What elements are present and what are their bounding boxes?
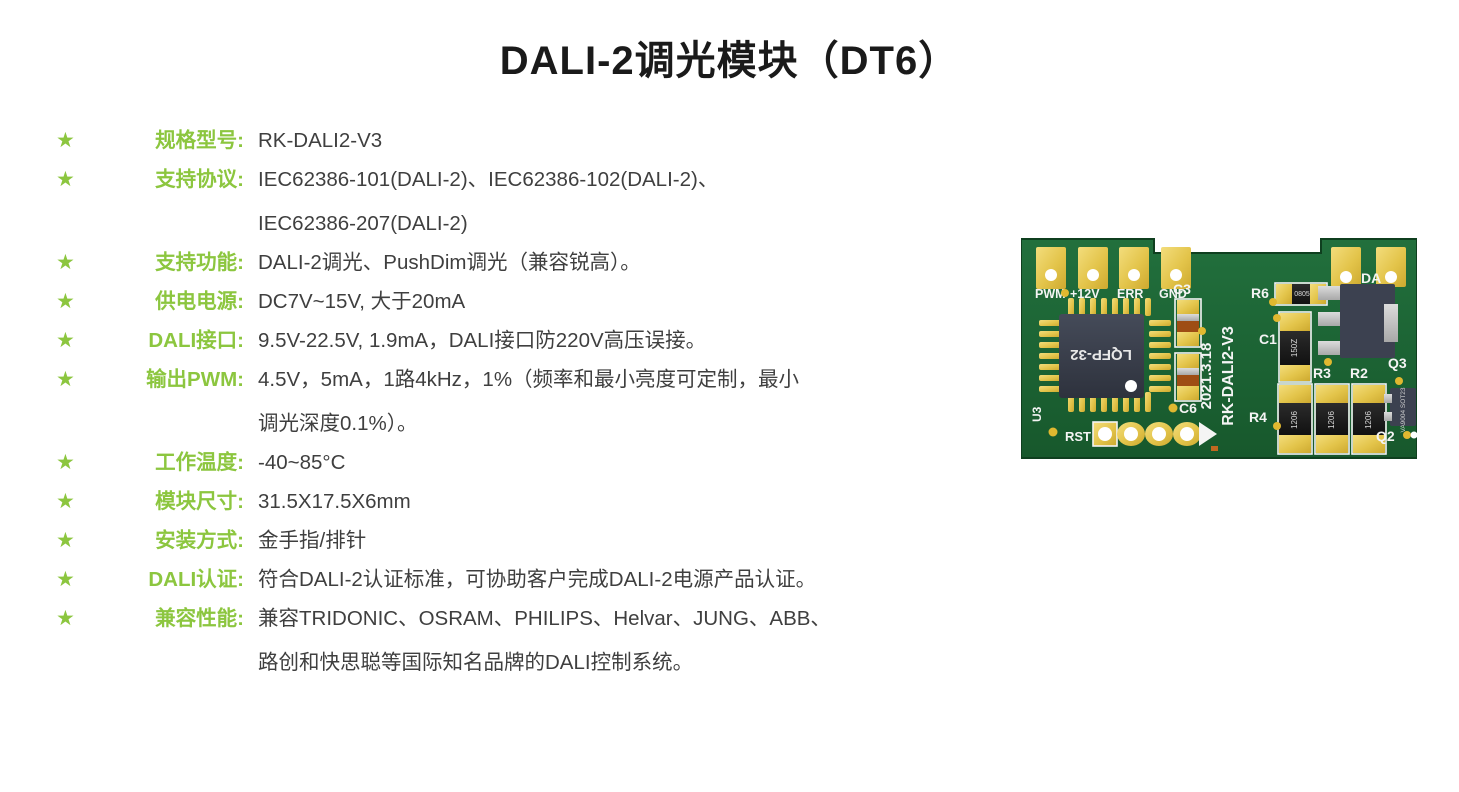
silkscreen-c3: C3 [1173, 281, 1191, 297]
spec-value-line: 金手指/排针 [258, 526, 986, 556]
spec-row: ★ 输出PWM: 4.5V，5mA，1路4kHz，1%（频率和最小亮度可定制，最… [56, 365, 986, 439]
spec-value: DC7V~15V, 大于20mA [244, 287, 986, 317]
via-pad [1061, 289, 1069, 297]
silkscreen-c1: C1 [1259, 331, 1277, 347]
spec-value: DALI-2调光、PushDim调光（兼容锐高）。 [244, 248, 986, 278]
spec-value: 兼容TRIDONIC、OSRAM、PHILIPS、Helvar、JUNG、ABB… [244, 604, 986, 678]
spec-row: ★ 支持功能: DALI-2调光、PushDim调光（兼容锐高）。 [56, 248, 986, 278]
svg-text:1206: 1206 [1364, 411, 1373, 429]
spec-row: ★ DALI认证: 符合DALI-2认证标准，可协助客户完成DALI-2电源产品… [56, 565, 986, 595]
svg-text:1206: 1206 [1327, 411, 1336, 429]
svg-text:1206: 1206 [1290, 411, 1299, 429]
silkscreen-c6: C6 [1179, 400, 1197, 416]
spec-value: 9.5V-22.5V, 1.9mA，DALI接口防220V高压误接。 [244, 326, 986, 356]
silkscreen-part-number: RK-DALI2-V3 [1220, 326, 1237, 426]
spec-row: ★ 安装方式: 金手指/排针 [56, 526, 986, 556]
star-icon: ★ [56, 487, 82, 517]
spec-label: DALI接口: [90, 326, 244, 356]
spec-value-line: DC7V~15V, 大于20mA [258, 287, 986, 317]
spec-value-line: 路创和快思聪等国际知名品牌的DALI控制系统。 [258, 648, 986, 678]
spec-value-line: IEC62386-101(DALI-2)、IEC62386-102(DALI-2… [258, 165, 986, 195]
spec-label: 支持功能: [90, 248, 244, 278]
pad-label-pwm: PWM [1035, 287, 1066, 301]
silkscreen-r4: R4 [1249, 409, 1267, 425]
spec-value-line: 9.5V-22.5V, 1.9mA，DALI接口防220V高压误接。 [258, 326, 986, 356]
pad-label-12v: +12V [1070, 287, 1100, 301]
spec-label: 供电电源: [90, 287, 244, 317]
spec-label: 模块尺寸: [90, 487, 244, 517]
svg-text:VA9004 SOT23: VA9004 SOT23 [1400, 387, 1407, 432]
spec-value-line: IEC62386-207(DALI-2) [258, 209, 986, 239]
spec-value-line: 调光深度0.1%）。 [258, 409, 986, 439]
star-icon: ★ [56, 287, 82, 317]
spec-value-line: 符合DALI-2认证标准，可协助客户完成DALI-2电源产品认证。 [258, 565, 986, 595]
spec-sheet-page: DALI-2调光模块（DT6） ★ 规格型号: RK-DALI2-V3 ★ 支持… [0, 0, 1459, 792]
star-icon: ★ [56, 365, 82, 395]
spec-value-line: 兼容TRIDONIC、OSRAM、PHILIPS、Helvar、JUNG、ABB… [258, 604, 986, 634]
spec-value-line: -40~85°C [258, 448, 986, 478]
pcb-product-image: PWM +12V ERR GND DA [1021, 236, 1417, 460]
spec-value: RK-DALI2-V3 [244, 126, 986, 156]
page-title: DALI-2调光模块（DT6） [0, 28, 1459, 86]
star-icon: ★ [56, 248, 82, 278]
silkscreen-r6: R6 [1251, 285, 1269, 301]
silkscreen-q3: Q3 [1388, 355, 1407, 371]
spec-label: 兼容性能: [90, 604, 244, 634]
spec-row: ★ 支持协议: IEC62386-101(DALI-2)、IEC62386-10… [56, 165, 986, 239]
spec-value: 4.5V，5mA，1路4kHz，1%（频率和最小亮度可定制，最小 调光深度0.1… [244, 365, 986, 439]
pad-label-da: DA [1361, 270, 1381, 286]
star-icon: ★ [56, 565, 82, 595]
silkscreen-date-code: 2021.3.18 [1198, 343, 1215, 410]
spec-value: IEC62386-101(DALI-2)、IEC62386-102(DALI-2… [244, 165, 986, 239]
spec-label: DALI认证: [90, 565, 244, 595]
spec-value-line: 4.5V，5mA，1路4kHz，1%（频率和最小亮度可定制，最小 [258, 365, 986, 395]
via-pad [1049, 428, 1058, 437]
ic-pin1-dot [1125, 380, 1137, 392]
ic-label-lqfp32: LQFP-32 [1070, 346, 1132, 363]
spec-value-line: 31.5X17.5X6mm [258, 487, 986, 517]
spec-label: 工作温度: [90, 448, 244, 478]
spec-value-line: DALI-2调光、PushDim调光（兼容锐高）。 [258, 248, 986, 278]
silkscreen-rst: RST [1065, 429, 1091, 444]
spec-row: ★ 工作温度: -40~85°C [56, 448, 986, 478]
spec-label: 安装方式: [90, 526, 244, 556]
silkscreen-u3: U3 [1030, 406, 1044, 422]
star-icon: ★ [56, 526, 82, 556]
star-icon: ★ [56, 604, 82, 634]
spec-row: ★ 供电电源: DC7V~15V, 大于20mA [56, 287, 986, 317]
spec-value: 符合DALI-2认证标准，可协助客户完成DALI-2电源产品认证。 [244, 565, 986, 595]
spec-value-line: RK-DALI2-V3 [258, 126, 986, 156]
spec-list: ★ 规格型号: RK-DALI2-V3 ★ 支持协议: IEC62386-101… [56, 126, 986, 687]
silkscreen-r2: R2 [1350, 365, 1368, 381]
spec-row: ★ 规格型号: RK-DALI2-V3 [56, 126, 986, 156]
star-icon: ★ [56, 126, 82, 156]
star-icon: ★ [56, 326, 82, 356]
spec-row: ★ 兼容性能: 兼容TRIDONIC、OSRAM、PHILIPS、Helvar、… [56, 604, 986, 678]
spec-value: -40~85°C [244, 448, 986, 478]
spec-label: 输出PWM: [90, 365, 244, 395]
silkscreen-q2: Q2 [1376, 428, 1395, 444]
tab-pads [1318, 286, 1340, 366]
svg-text:0805: 0805 [1294, 291, 1310, 298]
spec-row: ★ 模块尺寸: 31.5X17.5X6mm [56, 487, 986, 517]
star-icon: ★ [56, 448, 82, 478]
spec-value: 金手指/排针 [244, 526, 986, 556]
svg-text:150Z: 150Z [1290, 339, 1299, 357]
spec-label: 支持协议: [90, 165, 244, 195]
spec-label: 规格型号: [90, 126, 244, 156]
spec-row: ★ DALI接口: 9.5V-22.5V, 1.9mA，DALI接口防220V高… [56, 326, 986, 356]
pcb-illustration: PWM +12V ERR GND DA [1021, 236, 1417, 460]
star-icon: ★ [56, 165, 82, 195]
silkscreen-r3: R3 [1313, 365, 1331, 381]
spec-value: 31.5X17.5X6mm [244, 487, 986, 517]
